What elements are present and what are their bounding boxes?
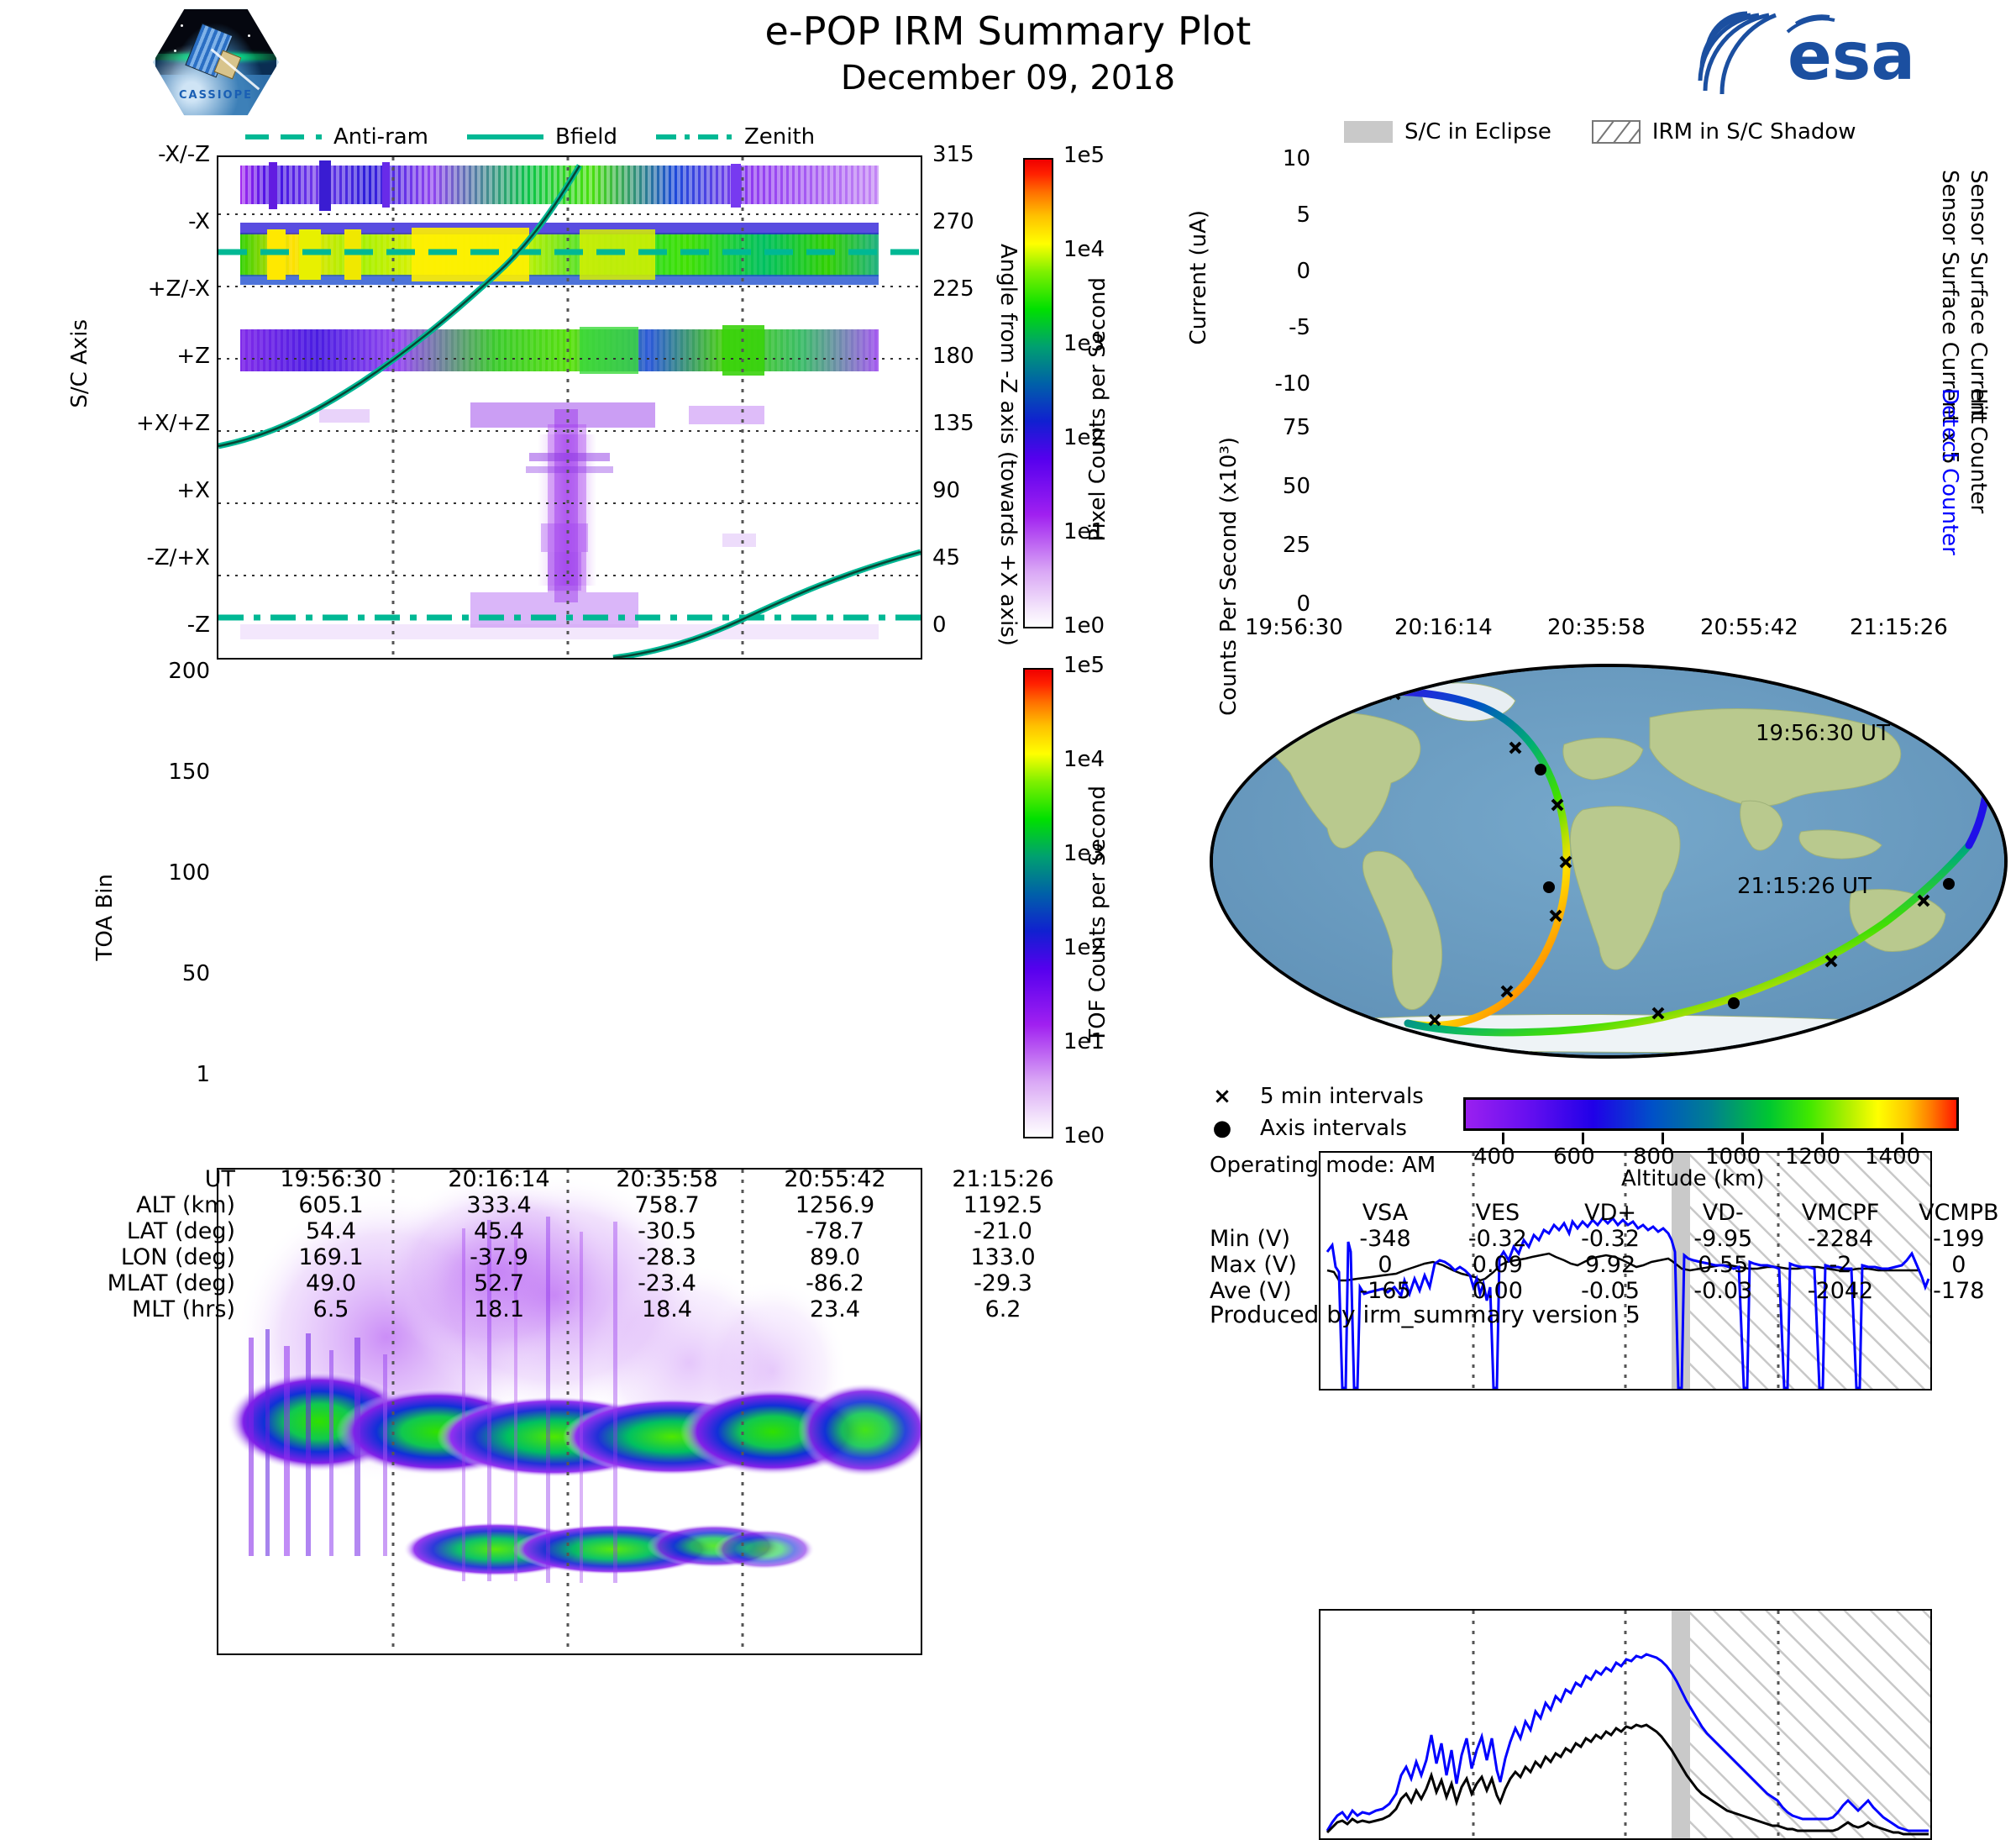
cbar-tick-label: 1400 (1865, 1144, 1920, 1170)
sc-axis-ytick-labels: -X/-Z -X +Z/-X +Z +X/+Z +X -Z/+X -Z (118, 155, 210, 626)
cbar-tick-label: 1e4 (1063, 237, 1105, 262)
legend-item-anti-ram: Anti-ram (244, 124, 428, 150)
cbar-tick-label: 1e0 (1063, 613, 1105, 639)
cell: 18.1 (415, 1296, 583, 1322)
cbar-tick-label: 1e5 (1063, 653, 1105, 678)
legend-label-irm-shadow: IRM in S/C Shadow (1652, 119, 1856, 145)
table-row: UT 19:56:30 20:16:14 20:35:58 20:55:42 2… (84, 1166, 1087, 1192)
altitude-colorbar (1463, 1097, 1959, 1131)
map-legend: × 5 min intervals ● Axis intervals Opera… (1210, 1084, 1436, 1178)
cbar-tick-label: 1200 (1785, 1144, 1840, 1170)
column-header: VES (1441, 1200, 1554, 1226)
pixel-counts-colorbar (1023, 158, 1053, 628)
cell: 18.4 (583, 1296, 751, 1322)
legend-label-zenith: Zenith (744, 124, 815, 150)
ytick-label: 150 (126, 760, 210, 785)
cell: 0.55 (1667, 1252, 1779, 1278)
tof-counts-colorbar (1023, 668, 1053, 1138)
table-row: MLT (hrs) 6.5 18.1 18.4 23.4 6.2 (84, 1296, 1087, 1322)
current-ytick-labels: 10 5 0 -5 -10 (1235, 160, 1310, 386)
cell: -2284 (1779, 1226, 1901, 1252)
cell: 45.4 (415, 1218, 583, 1244)
column-header: VCMPB (1902, 1200, 2016, 1226)
cell: -21.0 (919, 1218, 1087, 1244)
ytick-label: 225 (932, 276, 974, 302)
cell: 605.1 (247, 1192, 415, 1218)
cell: 20:55:42 (751, 1166, 919, 1192)
legend-label-bfield: Bfield (555, 124, 617, 150)
ytick-label: 270 (932, 209, 974, 234)
cell: -0.32 (1554, 1226, 1667, 1252)
table-row: MLAT (deg) 49.0 52.7 -23.4 -86.2 -29.3 (84, 1270, 1087, 1296)
current-ylabel: Current (uA) (1186, 210, 1211, 344)
cell: 1256.9 (751, 1192, 919, 1218)
operating-mode-label: Operating mode: AM (1210, 1153, 1436, 1178)
cbar-tick-label: 1e4 (1063, 747, 1105, 772)
eclipse-legend: S/C in Eclipse IRM in S/C Shadow (1344, 119, 1856, 145)
xtick-label: 20:35:58 (1547, 615, 1646, 640)
cell: 20:35:58 (583, 1166, 751, 1192)
altitude-colorbar-ticks: 400 600 800 1000 1200 1400 (1463, 1133, 1984, 1163)
ytick-label: 5 (1235, 202, 1310, 228)
column-header: VD- (1667, 1200, 1779, 1226)
esa-logo: esa (1697, 10, 1999, 97)
ytick-label: +Z (118, 344, 210, 369)
spectrogram-legend: Anti-ram Bfield Zenith (244, 124, 815, 150)
legend-item-axis-intervals: ● Axis intervals (1210, 1116, 1436, 1141)
map-start-time-label: 19:56:30 UT (1756, 721, 1890, 746)
row-label: UT (84, 1166, 247, 1192)
counts-right-label-blue: Detect Counter (1937, 388, 1962, 555)
row-label: LON (deg) (84, 1244, 247, 1270)
cell: 23.4 (751, 1296, 919, 1322)
ytick-label: -5 (1235, 315, 1310, 340)
ytick-label: 25 (1235, 533, 1310, 558)
table-row: Min (V) -348 -0.32 -0.32 -9.95 -2284 -19… (1210, 1226, 2016, 1252)
ytick-label: -Z (118, 612, 210, 638)
voltage-table: VSA VES VD+ VD- VMCPF VCMPB Min (V) -348… (1210, 1200, 2016, 1304)
legend-label-sc-eclipse: S/C in Eclipse (1404, 119, 1551, 145)
cell: 6.2 (919, 1296, 1087, 1322)
column-header: VMCPF (1779, 1200, 1901, 1226)
cell: -86.2 (751, 1270, 919, 1296)
cell: -9.95 (1667, 1226, 1779, 1252)
cell: -37.9 (415, 1244, 583, 1270)
ytick-label: -Z/+X (118, 545, 210, 570)
sc-axis-spectrogram-data (218, 157, 921, 658)
ytick-label: -X/-Z (118, 142, 210, 167)
ytick-label: -X (118, 209, 210, 234)
xtick-label: 21:15:26 (1850, 615, 1948, 640)
cell: 0 (1329, 1252, 1441, 1278)
cell: -0.03 (1667, 1278, 1779, 1304)
cell: 169.1 (247, 1244, 415, 1270)
cell: 19:56:30 (247, 1166, 415, 1192)
cbar-tick-label: 600 (1553, 1144, 1595, 1170)
counts-ytick-labels: 75 50 25 0 (1235, 428, 1310, 622)
ytick-label: 10 (1235, 146, 1310, 171)
cell: -199 (1902, 1226, 2016, 1252)
cell: -178 (1902, 1278, 2016, 1304)
cell: 49.0 (247, 1270, 415, 1296)
table-header-row: VSA VES VD+ VD- VMCPF VCMPB (1210, 1200, 2016, 1226)
ytick-label: 315 (932, 142, 974, 167)
cell: 333.4 (415, 1192, 583, 1218)
cell: 0.09 (1441, 1252, 1554, 1278)
ytick-label: -10 (1235, 371, 1310, 397)
row-label: Max (V) (1210, 1252, 1329, 1278)
cell: 54.4 (247, 1218, 415, 1244)
angle-axis-ylabel: Angle from -Z axis (towards +X axis) (995, 244, 1021, 646)
cell: 9.92 (1554, 1252, 1667, 1278)
xtick-label: 20:16:14 (1394, 615, 1493, 640)
cell: -0.32 (1441, 1226, 1554, 1252)
ytick-label: 90 (932, 478, 960, 503)
legend-label-5min: 5 min intervals (1260, 1084, 1424, 1109)
row-label: MLAT (deg) (84, 1270, 247, 1296)
xtick-label: 19:56:30 (1245, 615, 1343, 640)
cell: 758.7 (583, 1192, 751, 1218)
cell: 89.0 (751, 1244, 919, 1270)
ytick-label: +Z/-X (118, 276, 210, 302)
column-header: VSA (1329, 1200, 1441, 1226)
ytick-label: +X (118, 478, 210, 503)
ephemeris-table: UT 19:56:30 20:16:14 20:35:58 20:55:42 2… (84, 1166, 1087, 1322)
table-row: Max (V) 0 0.09 9.92 0.55 -2 0 (1210, 1252, 2016, 1278)
legend-item-sc-eclipse: S/C in Eclipse (1344, 119, 1551, 145)
legend-item-irm-shadow: IRM in S/C Shadow (1592, 119, 1856, 145)
altitude-colorbar-label: Altitude (km) (1621, 1166, 1765, 1191)
ytick-label: 200 (126, 659, 210, 684)
ytick-label: 50 (1235, 474, 1310, 499)
cell: -78.7 (751, 1218, 919, 1244)
toa-bin-ytick-labels: 200 150 100 50 1 (126, 672, 210, 1143)
sc-axis-ylabel: S/C Axis (67, 319, 92, 408)
cell: 1192.5 (919, 1192, 1087, 1218)
pixel-counts-colorbar-label: Pixel Counts per Second (1085, 277, 1110, 542)
ytick-label: 0 (1235, 259, 1310, 284)
cell: -28.3 (583, 1244, 751, 1270)
ytick-label: 50 (126, 961, 210, 986)
cell: -29.3 (919, 1270, 1087, 1296)
legend-label-anti-ram: Anti-ram (333, 124, 428, 150)
ytick-label: 180 (932, 344, 974, 369)
cell: -2042 (1779, 1278, 1901, 1304)
current-right-label-black: Sensor Surface Current (1966, 170, 1991, 423)
cell: 133.0 (919, 1244, 1087, 1270)
ytick-label: 0 (1235, 591, 1310, 617)
xtick-label: 20:55:42 (1700, 615, 1798, 640)
tof-counts-colorbar-label: TOF Counts per Second (1085, 786, 1110, 1043)
ytick-label: 75 (1235, 415, 1310, 440)
cross-marker-icon: × (1210, 1084, 1235, 1109)
ytick-label: 0 (932, 612, 947, 638)
counts-plot (1319, 1609, 1932, 1840)
cell: -2 (1779, 1252, 1901, 1278)
cell: -30.5 (583, 1218, 751, 1244)
legend-item-zenith: Zenith (654, 124, 815, 150)
cell: -23.4 (583, 1270, 751, 1296)
ytick-label: 135 (932, 411, 974, 436)
table-row: LAT (deg) 54.4 45.4 -30.5 -78.7 -21.0 (84, 1218, 1087, 1244)
ytick-label: 100 (126, 860, 210, 886)
cbar-tick-label: 400 (1473, 1144, 1515, 1170)
svg-text:esa: esa (1788, 19, 1915, 95)
counts-right-label-black: Hit Counter (1966, 388, 1991, 513)
ytick-label: +X/+Z (118, 411, 210, 436)
column-header: VD+ (1554, 1200, 1667, 1226)
row-label: LAT (deg) (84, 1218, 247, 1244)
cbar-tick-label: 1e5 (1063, 143, 1105, 168)
cell: 20:16:14 (415, 1166, 583, 1192)
legend-item-bfield: Bfield (465, 124, 617, 150)
cell: 21:15:26 (919, 1166, 1087, 1192)
map-end-time-label: 21:15:26 UT (1737, 874, 1872, 899)
ytick-label: 1 (126, 1062, 210, 1087)
cbar-tick-label: 1e0 (1063, 1123, 1105, 1149)
row-label: Min (V) (1210, 1226, 1329, 1252)
dot-marker-icon: ● (1210, 1116, 1235, 1141)
hatched-swatch (1592, 120, 1641, 144)
row-label: ALT (km) (84, 1192, 247, 1218)
legend-label-axis-intervals: Axis intervals (1260, 1116, 1407, 1141)
cell: 52.7 (415, 1270, 583, 1296)
legend-item-5min: × 5 min intervals (1210, 1084, 1436, 1109)
cell: 6.5 (247, 1296, 415, 1322)
footer-text: Produced by irm_summary version 5 (1210, 1301, 1641, 1328)
eclipse-swatch (1344, 121, 1393, 143)
row-label: MLT (hrs) (84, 1296, 247, 1322)
counts-plot-data (1320, 1611, 1930, 1838)
cell: -348 (1329, 1226, 1441, 1252)
toa-bin-ylabel: TOA Bin (92, 874, 118, 960)
table-row: LON (deg) 169.1 -37.9 -28.3 89.0 133.0 (84, 1244, 1087, 1270)
cell: 0 (1902, 1252, 2016, 1278)
sc-axis-spectrogram (217, 155, 922, 660)
table-row: ALT (km) 605.1 333.4 758.7 1256.9 1192.5 (84, 1192, 1087, 1218)
ytick-label: 45 (932, 545, 960, 570)
